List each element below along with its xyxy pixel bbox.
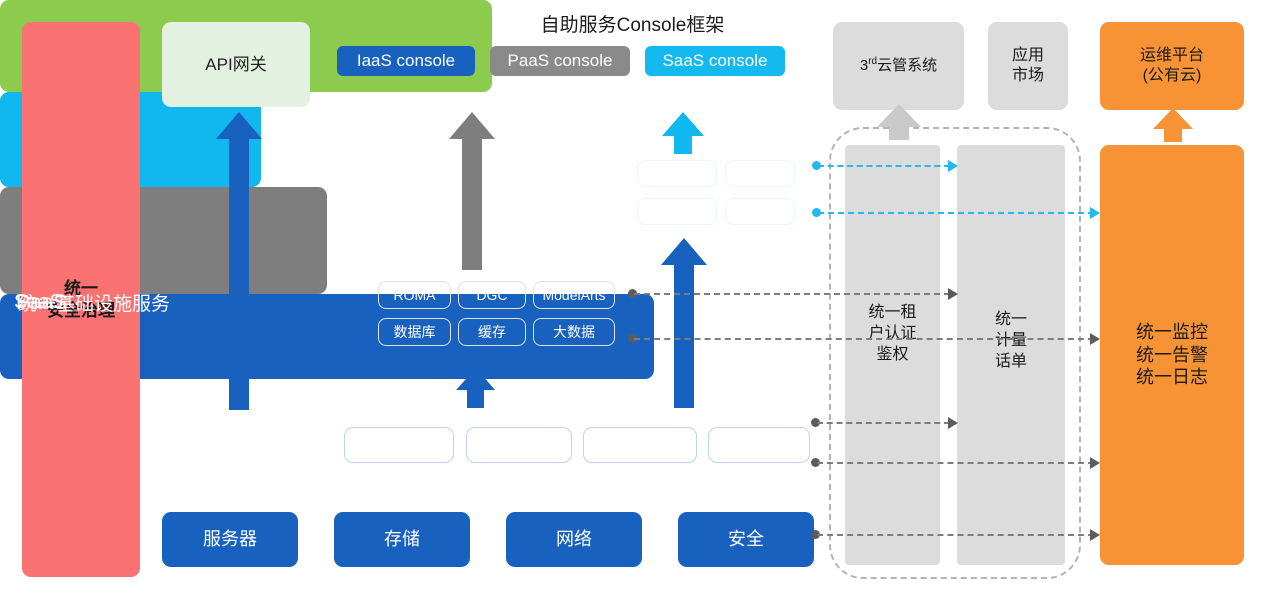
saas-item-desktop-cloud-label: 桌面云 [737, 201, 782, 222]
paas-item-modelarts-label: ModelArts [542, 287, 605, 303]
unified-infrastructure-label: 统一基础设施服务 [18, 0, 170, 605]
infra-item-compute-label: Compute [360, 434, 437, 456]
arrowhead-saas-to-metering [948, 160, 958, 172]
infra-item-network-label: Network [605, 434, 675, 456]
connector-infra-to-metering [817, 422, 950, 424]
arrow-to-ops-platform [1152, 108, 1194, 142]
unified-tenant-auth-column: 统一租 户认证 鉴权 [845, 145, 940, 565]
unified-tenant-auth-label: 统一租 户认证 鉴权 [845, 303, 940, 365]
infra-item-storage[interactable]: Storage [466, 427, 572, 463]
paas-item-cache[interactable]: 缓存 [458, 318, 526, 346]
saas-console-button[interactable]: SaaS console [645, 46, 785, 76]
arrowhead-saas-to-ops [1090, 207, 1100, 219]
ops-platform-label: 运维平台 (公有云) [1140, 46, 1204, 86]
paas-console-button[interactable]: PaaS console [490, 46, 630, 76]
paas-item-cache-label: 缓存 [478, 322, 506, 342]
paas-item-dgc[interactable]: DGC [458, 281, 526, 309]
hardware-item-server-label: 服务器 [203, 528, 257, 551]
arrow-infra-to-paas [456, 368, 496, 408]
architecture-diagram: 统一 安全治理 API网关 自助服务Console框架 IaaS console… [0, 0, 1265, 605]
unified-monitoring-label: 统一监控 统一告警 统一日志 [1136, 321, 1208, 389]
paas-item-bigdata-label: 大数据 [553, 322, 595, 342]
unified-monitoring-panel: 统一监控 统一告警 统一日志 [1100, 145, 1244, 565]
hardware-item-server[interactable]: 服务器 [162, 512, 298, 567]
iaas-console-button[interactable]: IaaS console [337, 46, 475, 76]
connector-infra-to-ops [817, 462, 1094, 464]
arrowhead-paas-to-metering [948, 288, 958, 300]
saas-item-video-cloud-label: 视频云 [654, 201, 699, 222]
saas-item-video-cloud[interactable]: 视频云 [637, 198, 717, 225]
infra-item-cce[interactable]: CCE [708, 427, 810, 463]
arrowhead-infra-to-ops [1090, 457, 1100, 469]
infra-item-cce-label: CCE [739, 434, 779, 456]
hardware-item-security-label: 安全 [728, 528, 764, 551]
third-party-cloud-management-box: 3rd云管系统 [833, 22, 964, 110]
paas-console-label: PaaS console [508, 51, 613, 71]
arrow-paas-to-console [448, 112, 498, 270]
paas-item-dgc-label: DGC [476, 287, 507, 303]
paas-item-roma[interactable]: ROMA [378, 281, 451, 309]
app-market-label: 应用 市场 [1012, 46, 1044, 86]
saas-console-label: SaaS console [663, 51, 768, 71]
saas-item-iot-label: IoT [749, 165, 771, 182]
paas-item-roma-label: ROMA [394, 287, 436, 303]
infra-item-compute[interactable]: Compute [344, 427, 454, 463]
arrow-infra-to-api-gateway [215, 112, 265, 410]
paas-item-database[interactable]: 数据库 [378, 318, 451, 346]
saas-item-blockchain[interactable]: 区块链 [637, 160, 717, 187]
hardware-item-security[interactable]: 安全 [678, 512, 814, 567]
connector-saas-to-metering [818, 165, 950, 167]
arrowhead-infra-to-metering [948, 417, 958, 429]
connector-saas-to-ops [818, 212, 1094, 214]
arrow-saas-to-console [662, 112, 706, 154]
iaas-console-label: IaaS console [357, 51, 455, 71]
arrowhead-hardware-to-ops [1090, 529, 1100, 541]
api-gateway-label: API网关 [205, 54, 266, 75]
saas-item-iot[interactable]: IoT [725, 160, 795, 187]
third-party-superscript: rd [868, 56, 877, 67]
paas-item-modelarts[interactable]: ModelArts [533, 281, 615, 309]
arrow-shared-to-third-party [876, 104, 922, 140]
third-party-label: 3rd云管系统 [860, 56, 937, 76]
paas-item-database-label: 数据库 [394, 322, 436, 342]
unified-metering-column: 统一 计量 话单 [957, 145, 1065, 565]
connector-paas-to-metering [634, 293, 950, 295]
connector-paas-to-ops [634, 338, 1094, 340]
connector-hardware-to-ops [817, 534, 1094, 536]
hardware-item-storage-label: 存储 [384, 528, 420, 551]
saas-item-blockchain-label: 区块链 [654, 163, 699, 184]
unified-metering-label: 统一 计量 话单 [957, 310, 1065, 372]
arrowhead-paas-to-ops [1090, 333, 1100, 345]
hardware-item-network[interactable]: 网络 [506, 512, 642, 567]
hardware-item-network-label: 网络 [556, 528, 592, 551]
ops-platform-public-cloud-box: 运维平台 (公有云) [1100, 22, 1244, 110]
paas-item-bigdata[interactable]: 大数据 [533, 318, 615, 346]
hardware-item-storage[interactable]: 存储 [334, 512, 470, 567]
app-market-box: 应用 市场 [988, 22, 1068, 110]
arrow-infra-to-saas [660, 238, 710, 408]
saas-item-desktop-cloud[interactable]: 桌面云 [725, 198, 795, 225]
infra-item-network[interactable]: Network [583, 427, 697, 463]
infra-item-storage-label: Storage [486, 434, 553, 456]
console-framework-title: 自助服务Console框架 [0, 10, 1265, 37]
